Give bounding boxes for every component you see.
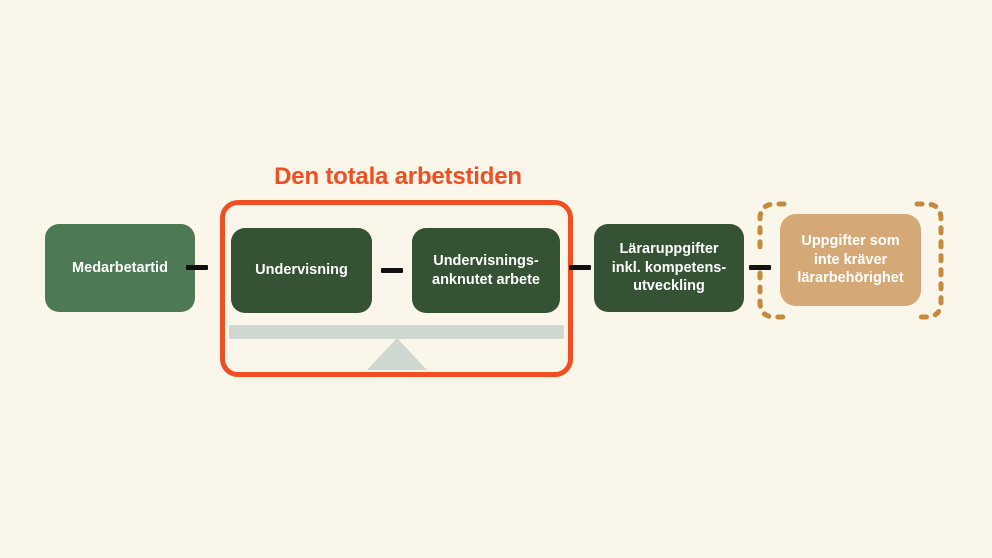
balance-beam: [229, 325, 564, 339]
node-lararuppgifter-label: Läraruppgifter inkl. kompetens- utveckli…: [612, 240, 726, 296]
node-undervisning[interactable]: Undervisning: [231, 228, 372, 313]
node-medarbetartid[interactable]: Medarbetartid: [45, 224, 195, 312]
work-time-diagram: Den totala arbetstiden Medarbetartid Und…: [0, 0, 992, 558]
node-uppgifter-utan-lararbehorighet-label: Uppgifter som inte kräver lärarbehörighe…: [797, 232, 903, 288]
node-undervisningsanknutet-arbete[interactable]: Undervisnings- anknutet arbete: [412, 228, 560, 313]
node-medarbetartid-label: Medarbetartid: [72, 259, 168, 278]
connector-undervisning-anknutet: [381, 268, 403, 273]
node-undervisningsanknutet-arbete-label: Undervisnings- anknutet arbete: [432, 252, 540, 289]
node-uppgifter-utan-lararbehorighet[interactable]: Uppgifter som inte kräver lärarbehörighe…: [780, 214, 921, 306]
diagram-title-text: Den totala arbetstiden: [274, 163, 522, 191]
connector-medarbetartid-undervisning: [186, 265, 208, 270]
connector-anknutet-lararuppgifter: [569, 265, 591, 270]
balance-fulcrum-triangle-icon: [367, 338, 427, 370]
node-lararuppgifter[interactable]: Läraruppgifter inkl. kompetens- utveckli…: [594, 224, 744, 312]
diagram-title: Den totala arbetstiden: [0, 163, 992, 191]
connector-lararuppgifter-uppgifter: [749, 265, 771, 270]
node-undervisning-label: Undervisning: [255, 261, 348, 280]
